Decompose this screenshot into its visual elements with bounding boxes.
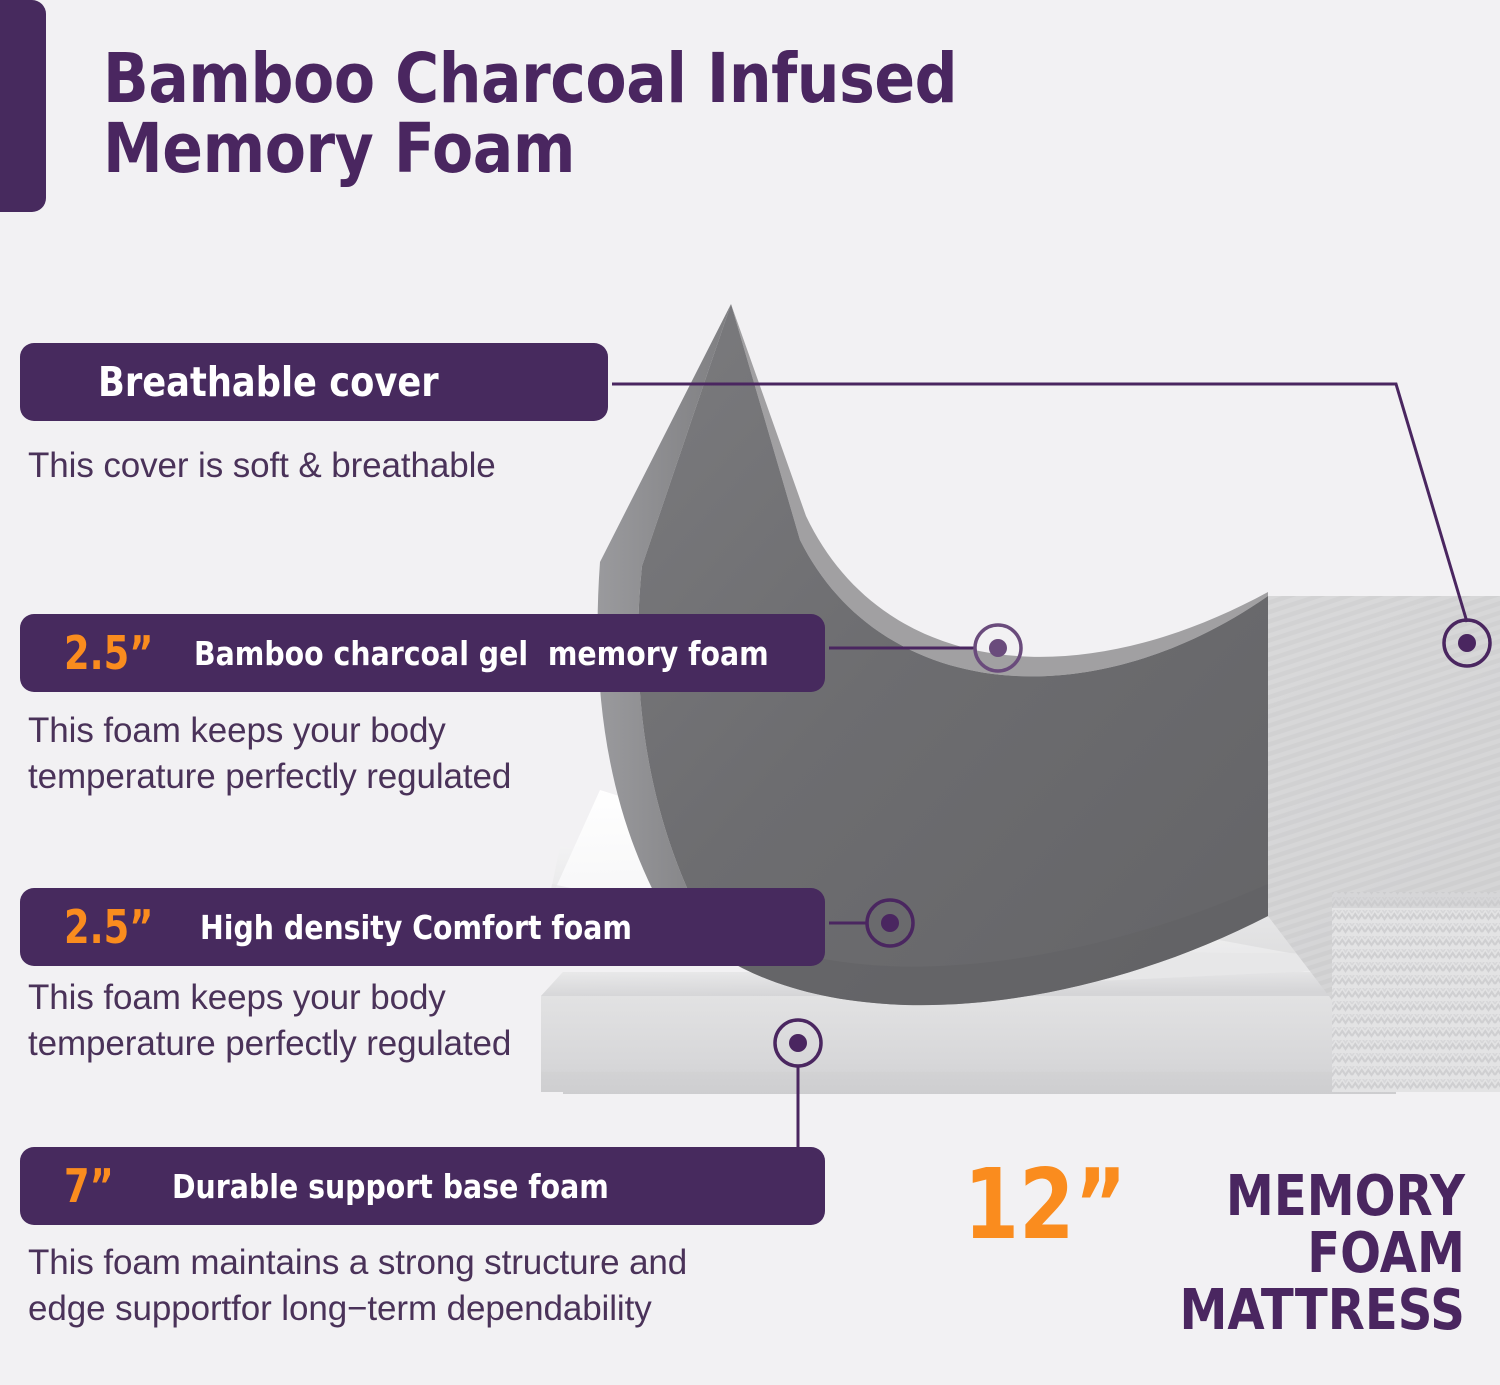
callout-badge-comfort-foam[interactable]: 2.5” High density Comfort foam — [20, 888, 825, 966]
callout-label-breathable-cover: Breathable cover — [98, 362, 439, 403]
callout-measure-memory-foam: 2.5” — [64, 630, 153, 676]
page-title: Bamboo Charcoal Infused Memory Foam — [103, 44, 1051, 185]
marker-comfort-foam — [867, 900, 913, 946]
callout-label-base-foam: Durable support base foam — [172, 1170, 609, 1203]
infographic-page: Bamboo Charcoal Infused Memory Foam — [0, 0, 1500, 1385]
leader-line-breathable-cover — [612, 384, 1467, 622]
callout-badge-base-foam[interactable]: 7” Durable support base foam — [20, 1147, 825, 1225]
callout-badge-memory-foam[interactable]: 2.5” Bamboo charcoal gel memory foam — [20, 614, 825, 692]
callout-description-base-foam: This foam maintains a strong structure a… — [28, 1240, 858, 1331]
product-lockup: 12” MEMORY FOAM MATTRESS — [940, 1160, 1465, 1339]
product-size: 12” — [964, 1160, 1127, 1249]
breathable-cover-panel — [1268, 596, 1500, 1092]
marker-memory-foam — [975, 625, 1021, 671]
callout-description-memory-foam: This foam keeps your body temperature pe… — [28, 708, 728, 799]
callout-description-comfort-foam: This foam keeps your body temperature pe… — [28, 975, 728, 1066]
product-name: MEMORY FOAM MATTRESS — [1180, 1160, 1465, 1339]
callout-measure-base-foam: 7” — [64, 1163, 114, 1209]
marker-base-foam — [775, 1020, 821, 1066]
callout-label-comfort-foam: High density Comfort foam — [200, 911, 632, 944]
callout-measure-comfort-foam: 2.5” — [64, 904, 153, 950]
callout-badge-breathable-cover[interactable]: Breathable cover — [20, 343, 608, 421]
marker-breathable-cover — [1444, 620, 1490, 666]
callout-leader-lines — [612, 384, 1467, 1149]
callout-markers — [775, 620, 1490, 1066]
header-accent-bar — [0, 0, 46, 212]
callout-description-breathable-cover: This cover is soft & breathable — [28, 443, 728, 489]
callout-label-memory-foam: Bamboo charcoal gel memory foam — [194, 637, 769, 670]
